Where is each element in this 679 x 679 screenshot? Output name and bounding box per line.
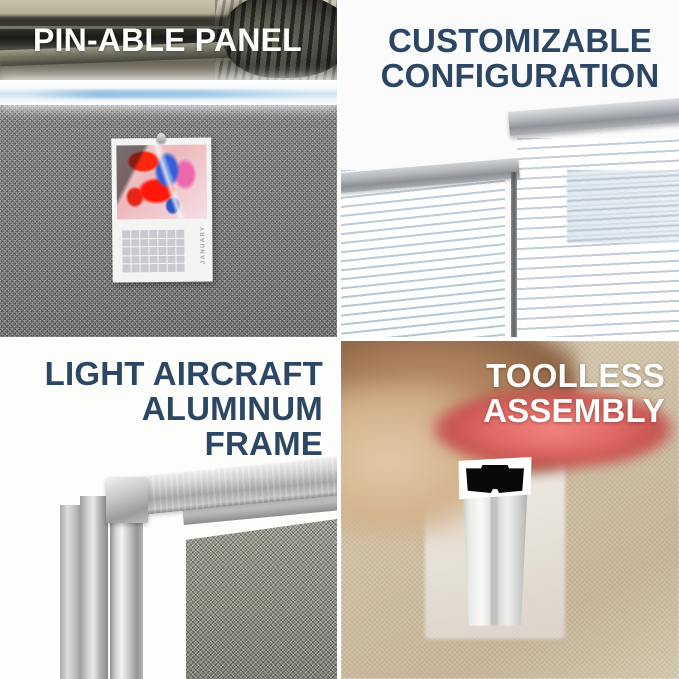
corner-joint-cap	[106, 477, 148, 523]
frame-post-rear	[60, 505, 82, 679]
calendar-month-label: JANUARY	[200, 226, 206, 265]
extrusion-slot-profile	[466, 465, 524, 493]
panel-light-aircraft-aluminum-frame: LIGHT AIRCRAFT ALUMINUM FRAME	[0, 341, 337, 679]
fingertip-shape	[433, 389, 673, 469]
panel-pin-able-panel: JANUARY PIN-ABLE PANEL	[0, 0, 337, 337]
wall-calendar: JANUARY	[111, 137, 213, 282]
frame-post-middle	[80, 496, 108, 679]
duct-pipe-icon	[0, 42, 230, 67]
round-duct-icon	[223, 0, 337, 78]
ceiling-photo	[0, 0, 337, 82]
extrusion-center-web	[491, 493, 497, 625]
strip-light-icon	[0, 80, 337, 105]
calendar-grid	[122, 230, 184, 273]
frame-post-front	[110, 517, 143, 679]
frame-mullion-left	[511, 172, 517, 337]
feature-collage: JANUARY PIN-ABLE PANEL CUSTOMIZABLE CONF…	[0, 0, 679, 679]
calendar-artwork	[116, 145, 207, 220]
grid-divider-horizontal	[0, 337, 679, 341]
panel-customizable-configuration: CUSTOMIZABLE CONFIGURATION	[341, 0, 679, 337]
push-pin-icon	[157, 133, 166, 143]
panel-toolless-assembly: TOOLLESS ASSEMBLY	[341, 341, 679, 679]
venetian-blinds-right	[517, 138, 679, 337]
fabric-infill-panel	[186, 519, 337, 679]
venetian-blinds-left	[341, 170, 505, 337]
